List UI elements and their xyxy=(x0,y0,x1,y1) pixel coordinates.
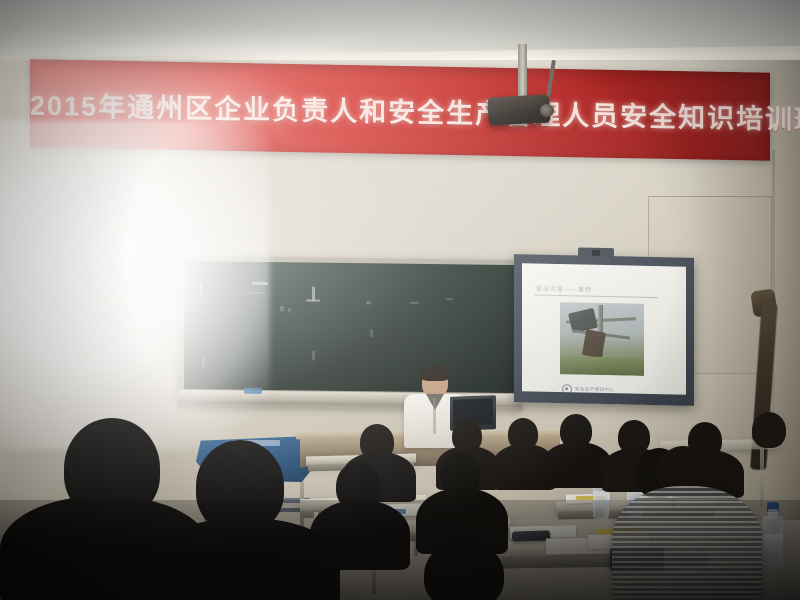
photo-foliage xyxy=(560,356,644,376)
chalk-mark xyxy=(280,306,284,311)
chalk-mark xyxy=(306,299,320,301)
bottle-label xyxy=(763,534,783,554)
slide-logo-text: 安全生产培训中心 xyxy=(575,386,614,393)
chalk-mark xyxy=(312,287,315,301)
mobile-phone xyxy=(512,530,550,541)
classroom-photo-scene: 2015年通州区企业负责人和安全生产管理人员安全知识培训班 xyxy=(0,0,800,600)
slide-title-text: 雷击灾害——案例 xyxy=(536,284,592,294)
organization-emblem-icon xyxy=(562,384,572,394)
chalk-mark xyxy=(288,308,291,312)
bottle-label xyxy=(593,491,609,507)
projector-lens-icon xyxy=(540,104,554,117)
slide-photo-image xyxy=(560,302,644,376)
chalk-mark xyxy=(410,302,419,304)
projection-screen: 雷击灾害——案例 安全生产培训中心 xyxy=(514,254,694,406)
screen-mount-bracket xyxy=(578,247,614,258)
slide-title-underline xyxy=(534,295,658,299)
presenter-hair xyxy=(420,366,450,381)
chalk-mark xyxy=(446,298,453,300)
presenter-lapel xyxy=(433,398,436,434)
projection-screen-surface: 雷击灾害——案例 安全生产培训中心 xyxy=(522,263,686,394)
projector-mount-pole xyxy=(518,44,527,102)
water-bottle xyxy=(762,502,784,566)
window-light-blowout xyxy=(0,120,270,450)
attendee-striped-sweater xyxy=(612,486,762,600)
slide-footer-logo: 安全生产培训中心 xyxy=(562,384,614,395)
chalk-mark xyxy=(370,329,373,337)
desk-leg xyxy=(760,449,764,507)
attendee-shoulders xyxy=(150,518,340,600)
chalk-mark xyxy=(312,351,315,361)
attendee-head xyxy=(752,412,786,448)
chalk-mark xyxy=(366,301,371,304)
